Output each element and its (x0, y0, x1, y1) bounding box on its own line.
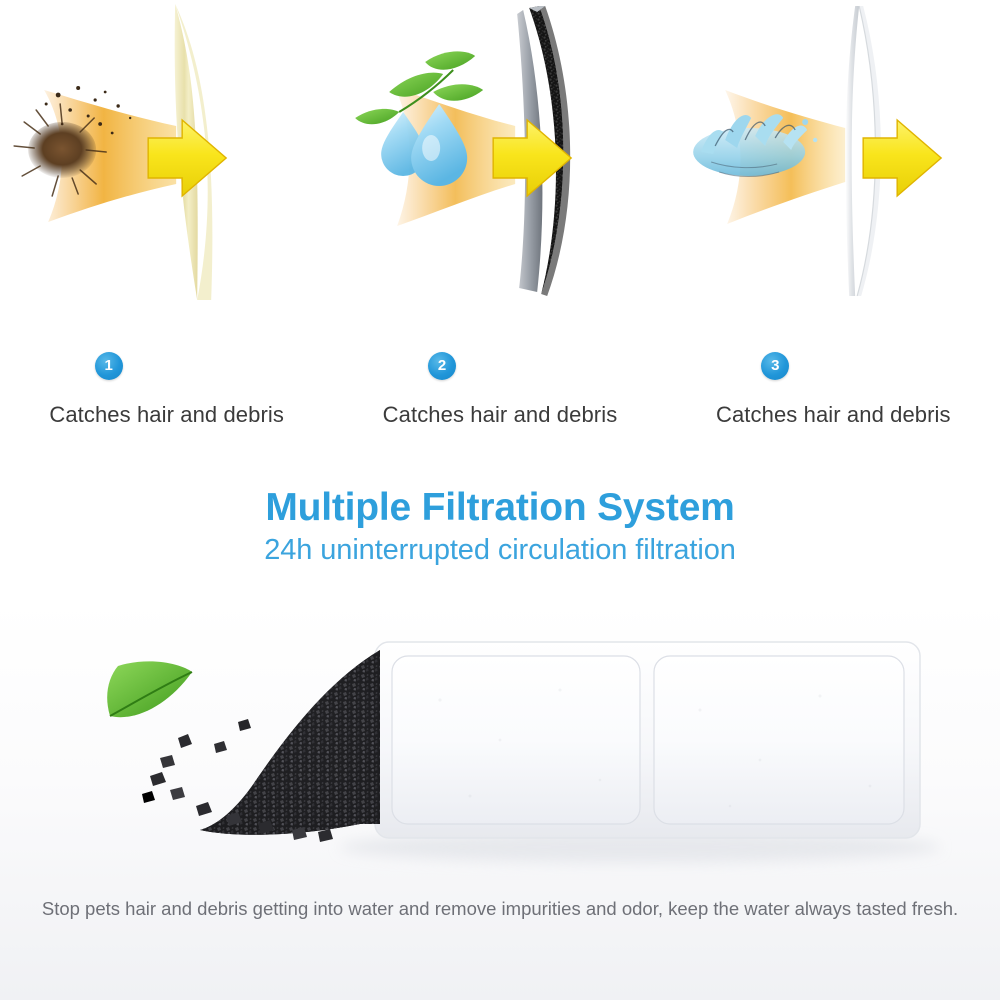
stage-2-illustration (333, 0, 666, 300)
filtration-stage-1: 1 Catches hair and debris (0, 0, 333, 460)
stage-1-illustration (0, 0, 333, 300)
infographic-page: 1 Catches hair and debris (0, 0, 1000, 1000)
heading-block: Multiple Filtration System 24h uninterru… (0, 487, 1000, 567)
stage-caption-1: Catches hair and debris (0, 402, 333, 428)
filter-pad-chamber-left (392, 656, 640, 824)
filter-membrane-left (845, 6, 858, 296)
stage-caption-2: Catches hair and debris (333, 402, 666, 428)
cream-fiber-filter-icon (0, 0, 333, 300)
page-subtitle: 24h uninterrupted circulation filtration (0, 535, 1000, 567)
filter-pad (375, 642, 920, 838)
filter-pad-chamber-right (654, 656, 904, 824)
carbon-and-filter-pad-illustration (0, 610, 1000, 890)
stage-badge-3: 3 (761, 352, 789, 380)
stage-badge-1: 1 (95, 352, 123, 380)
filtration-stage-3: 3 Catches hair and debris (667, 0, 1000, 460)
bottom-caption: Stop pets hair and debris getting into w… (0, 898, 1000, 920)
page-title: Multiple Filtration System (0, 487, 1000, 529)
activated-carbon-filter-icon (333, 0, 666, 300)
stage-3-illustration (667, 0, 1000, 300)
white-membrane-filter-icon (667, 0, 1000, 300)
filtration-stage-panels: 1 Catches hair and debris (0, 0, 1000, 460)
stage-caption-3: Catches hair and debris (667, 402, 1000, 428)
filtration-stage-2: 2 Catches hair and debris (333, 0, 666, 460)
stage-badge-2: 2 (428, 352, 456, 380)
green-leaf (107, 661, 192, 717)
product-photo (0, 610, 1000, 890)
